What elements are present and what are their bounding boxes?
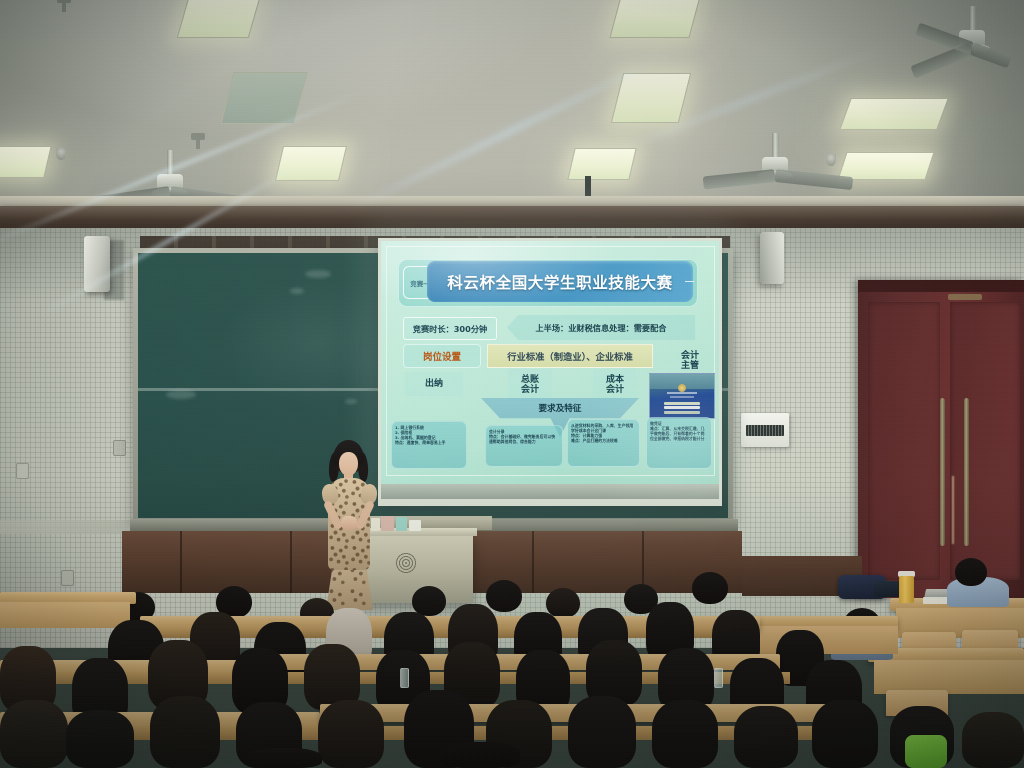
audience-hair	[440, 742, 520, 768]
podium-speaker-grille	[395, 552, 417, 574]
audience-hair	[568, 696, 636, 768]
ceiling-light-panel	[0, 146, 52, 178]
door-handle[interactable]	[940, 398, 945, 546]
ceiling-vent-panel	[221, 72, 308, 124]
audience-hair	[0, 700, 68, 768]
slide-arrow-label: 要求及特征	[481, 398, 639, 418]
ceiling-fan	[935, 6, 1009, 66]
audience-head	[955, 558, 987, 586]
audience-head	[692, 572, 728, 604]
screenshot-field	[664, 402, 700, 405]
podium-item-paper	[409, 520, 421, 531]
wainscot-seam	[532, 531, 534, 593]
screenshot-text-line	[670, 396, 693, 398]
presenter-dress-pattern	[326, 566, 373, 610]
audience-hair	[318, 700, 384, 768]
wainscot-seam	[290, 531, 292, 593]
wall-outlet	[16, 463, 29, 479]
chalk-residue	[345, 399, 357, 404]
fan-blade	[970, 42, 1012, 68]
door-top-plate	[948, 294, 982, 300]
ceiling-conduit	[191, 133, 205, 140]
audience-hair	[812, 700, 878, 768]
screenshot-field	[664, 406, 700, 409]
slide-note-general-ledger: 会计分录 特点：会计基础好、做完账务后可以快速帮助其他岗位、综合能力	[485, 425, 563, 467]
slide-system-screenshot	[649, 373, 715, 419]
green-tote-bag	[905, 735, 947, 768]
vacuum-flask	[899, 576, 914, 603]
slide-role-general-ledger: 总账 会计	[508, 369, 552, 401]
audience-hair	[734, 706, 798, 768]
sign-text-block	[746, 425, 784, 436]
audience-hair	[652, 700, 718, 768]
audience-hair	[962, 712, 1024, 768]
fan-rod	[969, 6, 976, 32]
chalk-residue	[290, 288, 304, 294]
door-light-gap	[952, 476, 954, 544]
sprinkler-head-icon	[56, 148, 66, 160]
chalk-residue	[166, 390, 196, 399]
paper-sheet	[923, 597, 949, 604]
door-handle[interactable]	[964, 398, 969, 546]
wall-speaker	[84, 236, 110, 292]
wall-outlet	[113, 440, 126, 456]
slide-note-chief: 做凭证 难点：汇算、从末交税汇缴、几乎做完账后、只有帮着的十个岗位全部做完、申报…	[646, 417, 712, 469]
screenshot-field	[664, 411, 700, 414]
door-leaf-left[interactable]	[868, 302, 940, 580]
fan-rod	[167, 150, 174, 176]
water-bottle	[714, 668, 723, 688]
slide-note-cost: 从进货材料的采购、入库、生产领用 学好成本会计这门课 特点：计算能力强 难点：产…	[567, 419, 640, 467]
slide-half-note: 上半场：业财税信息处理：需要配合	[507, 315, 695, 340]
ceiling-fan	[740, 133, 810, 189]
audience-head	[546, 588, 580, 618]
screen-lower-edge	[381, 484, 719, 499]
ceiling-light-panel	[611, 73, 691, 123]
desk-front-panel	[874, 660, 1024, 694]
audience-hair	[66, 710, 134, 768]
sprinkler-head-icon	[826, 154, 836, 166]
podium-item-box	[381, 516, 394, 531]
screenshot-text-line	[667, 392, 698, 394]
slide-role-cost-accounting: 成本 会计	[593, 369, 637, 401]
wainscot-seam	[180, 531, 182, 593]
ceiling-light-panel	[275, 146, 347, 181]
slide-post-setup-label: 岗位设置	[403, 344, 481, 368]
podium-item-cup	[396, 517, 407, 531]
lecture-hall-photo: 竞赛一 科云杯全国大学生职业技能大赛 竞赛时长：300分钟 上半场：业财税信息处…	[0, 0, 1024, 768]
wall-outlet	[61, 570, 74, 586]
slide-role-cashier: 出纳	[405, 372, 463, 396]
ceiling-conduit	[57, 0, 71, 3]
desk-front-panel	[0, 602, 130, 628]
fan-rod	[772, 133, 779, 159]
door-leaf-right[interactable]	[950, 302, 1020, 580]
presenter-speaking	[318, 440, 380, 610]
ceiling-light-panel	[567, 148, 636, 180]
wall-notice-sign	[741, 413, 789, 447]
ceiling-light-panel	[609, 0, 700, 38]
water-bottle	[400, 668, 409, 688]
ceiling-light-panel	[177, 0, 262, 38]
desk-front-panel	[752, 626, 898, 654]
audience-hair	[246, 748, 322, 768]
wall-speaker	[760, 232, 784, 284]
projected-slide-area: 竞赛一 科云杯全国大学生职业技能大赛 竞赛时长：300分钟 上半场：业财税信息处…	[381, 241, 719, 499]
slide-canvas: 竞赛一 科云杯全国大学生职业技能大赛 竞赛时长：300分钟 上半场：业财税信息处…	[381, 241, 719, 484]
slide-note-cashier: 1. 网上银行系统 2. 保险柜 3. 出纳机、票据的登记 特点：速度快、简单容…	[391, 421, 467, 469]
screenshot-logo-icon	[678, 384, 686, 392]
audience-hair	[150, 696, 220, 768]
presenter-hands	[341, 516, 357, 530]
slide-duration-label: 竞赛时长：300分钟	[403, 317, 497, 340]
audience-head	[486, 580, 522, 612]
ceiling-light-panel	[839, 98, 949, 130]
wooden-double-door[interactable]	[858, 280, 1024, 598]
door-header-trim	[858, 280, 1024, 292]
chalk-residue	[305, 270, 331, 278]
slide-title: 科云杯全国大学生职业技能大赛	[427, 261, 693, 302]
slide-standard-box: 行业标准（制造业）、企业标准	[487, 344, 653, 368]
ceiling-light-panel	[837, 152, 934, 180]
